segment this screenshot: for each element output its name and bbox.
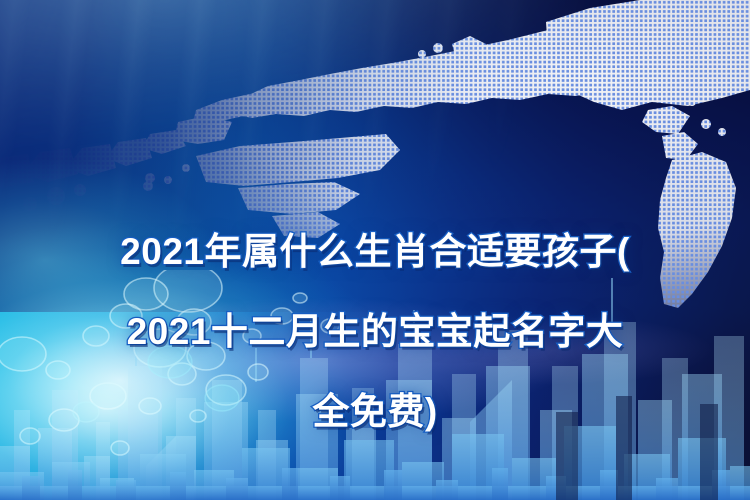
title-line-3: 全免费) bbox=[14, 392, 736, 432]
page-title: 2021年属什么生肖合适要孩子( 2021十二月生的宝宝起名字大 全免费) bbox=[0, 192, 750, 472]
title-line-1: 2021年属什么生肖合适要孩子( bbox=[14, 232, 736, 272]
title-line-2: 2021十二月生的宝宝起名字大 bbox=[14, 312, 736, 352]
banner-image: 2021年属什么生肖合适要孩子( 2021十二月生的宝宝起名字大 全免费) bbox=[0, 0, 750, 500]
